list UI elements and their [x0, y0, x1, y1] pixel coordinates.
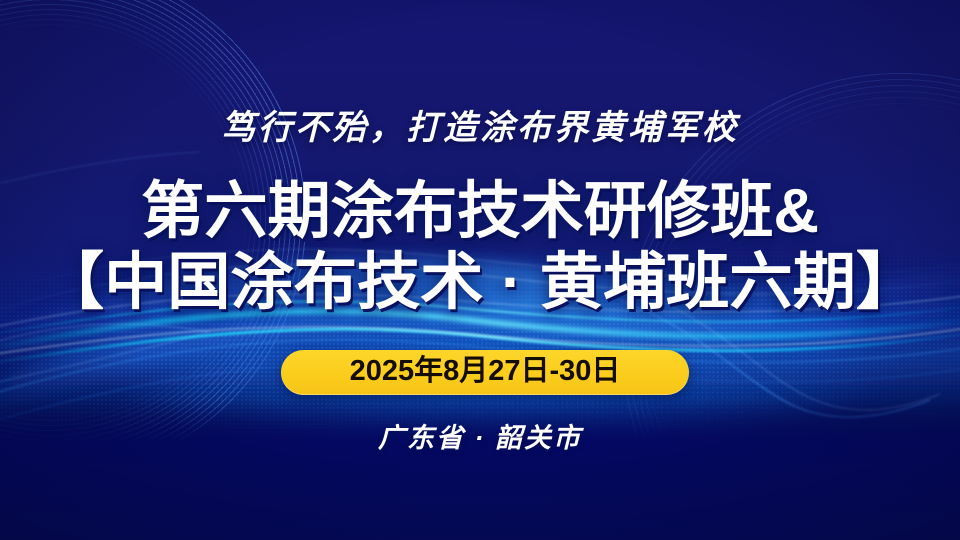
- event-location: 广东省 · 韶关市: [0, 416, 960, 455]
- banner-tagline: 笃行不殆，打造涂布界黄埔军校: [0, 100, 960, 149]
- event-date-badge: 2025年8月27日-30日: [281, 350, 689, 395]
- banner-title-line-1: 第六期涂布技术研修班&: [0, 179, 960, 245]
- event-date-text: 2025年8月27日-30日: [350, 357, 621, 386]
- event-banner: 笃行不殆，打造涂布界黄埔军校 第六期涂布技术研修班& 【中国涂布技术 · 黄埔班…: [0, 0, 960, 540]
- banner-content: 笃行不殆，打造涂布界黄埔军校 第六期涂布技术研修班& 【中国涂布技术 · 黄埔班…: [0, 0, 960, 540]
- banner-title-line-2: 【中国涂布技术 · 黄埔班六期】: [0, 250, 960, 316]
